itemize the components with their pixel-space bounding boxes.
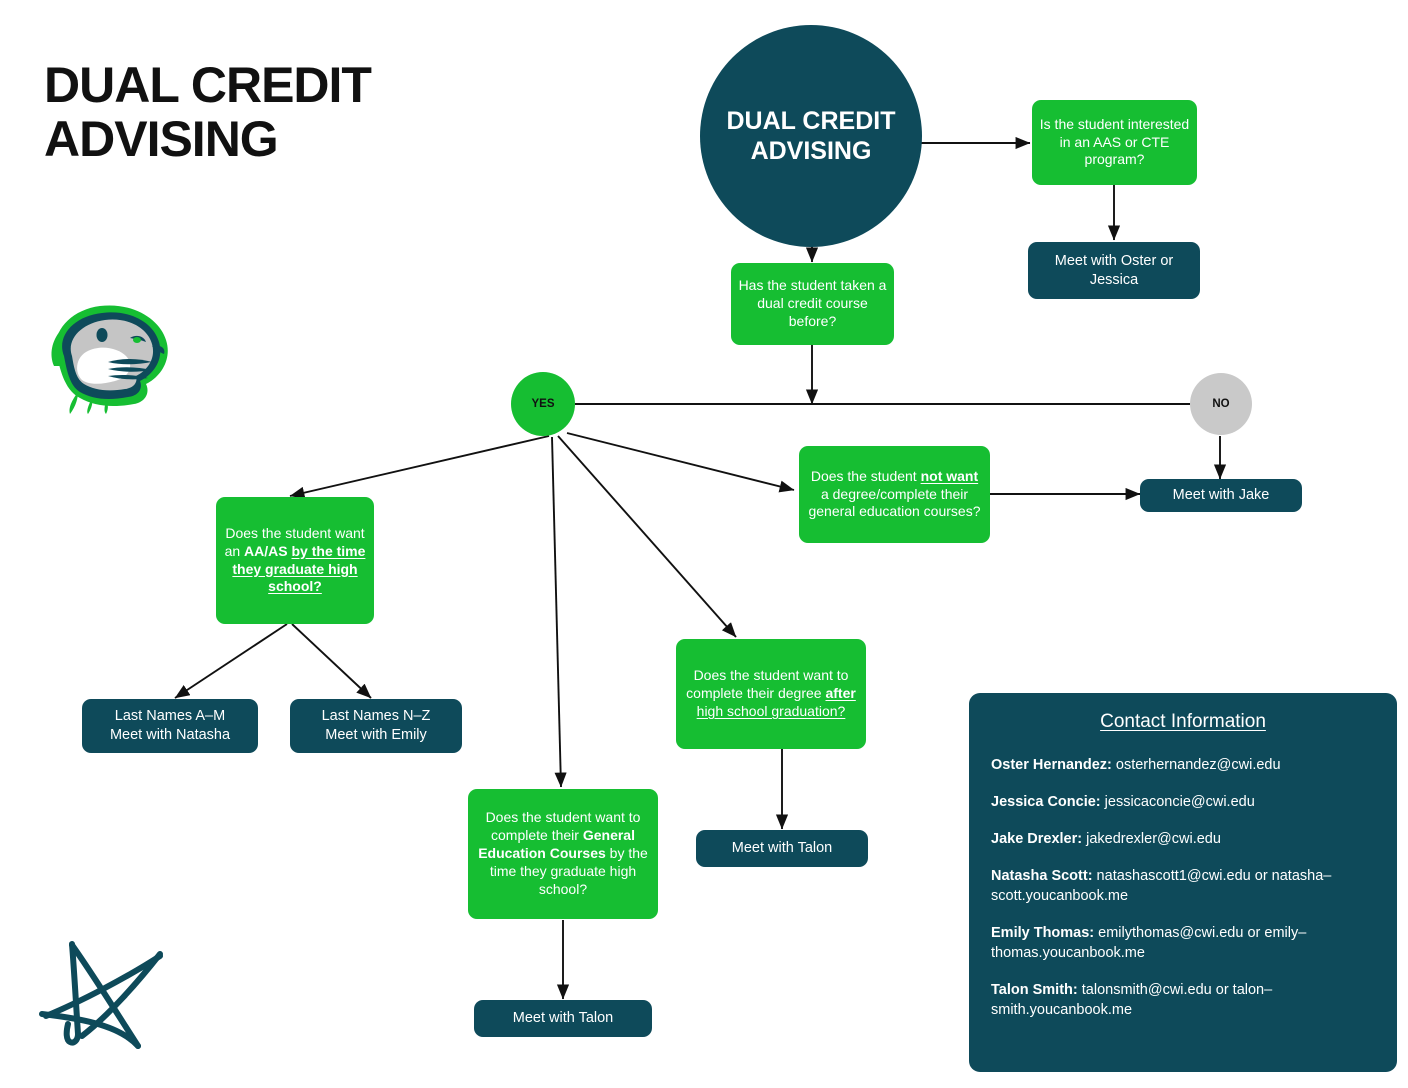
node-last-names-n-z[interactable]: Last Names N–Z Meet with Emily — [290, 699, 462, 753]
contact-row: Jessica Concie: jessicaconcie@cwi.edu — [991, 792, 1375, 812]
contact-row: Natasha Scott: natashascott1@cwi.edu or … — [991, 866, 1375, 906]
page-title-line-2: ADVISING — [44, 112, 474, 166]
contact-information-title: Contact Information — [991, 711, 1375, 733]
last-names-a-m-advisor: Meet with Natasha — [89, 726, 251, 745]
node-taken-dual-credit-before[interactable]: Has the student taken a dual credit cour… — [731, 263, 894, 345]
node-aas-cte-question[interactable]: Is the student interested in an AAS or C… — [1032, 100, 1197, 185]
contact-details: jakedrexler@cwi.edu — [1082, 831, 1221, 847]
contact-information-panel: Contact Information Oster Hernandez: ost… — [969, 693, 1397, 1072]
contact-row: Emily Thomas: emilythomas@cwi.edu or emi… — [991, 923, 1375, 963]
node-meet-talon-left-label: Meet with Talon — [474, 1009, 652, 1028]
after-grad-part-3: high school graduation? — [697, 703, 846, 719]
node-meet-oster-or-jessica[interactable]: Meet with Oster or Jessica — [1028, 242, 1200, 299]
decision-no-label: NO — [1212, 398, 1229, 410]
sketch-star-decoration — [38, 928, 170, 1060]
aa-as-emphasis-degree: AA/AS — [244, 543, 288, 559]
contact-row: Jake Drexler: jakedrexler@cwi.edu — [991, 829, 1375, 849]
contact-name: Oster Hernandez: — [991, 757, 1112, 773]
node-taken-dual-credit-before-label: Has the student taken a dual credit cour… — [731, 277, 894, 331]
contact-row: Talon Smith: talonsmith@cwi.edu or talon… — [991, 980, 1375, 1020]
after-grad-emphasis: after — [825, 685, 855, 701]
contact-name: Jessica Concie: — [991, 794, 1101, 810]
flowchart-canvas: DUAL CREDIT ADVISING — [0, 0, 1408, 1088]
page-title: DUAL CREDIT ADVISING — [44, 58, 474, 166]
not-want-degree-part-3: a degree/complete their general educatio… — [808, 486, 980, 520]
page-title-line-1: DUAL CREDIT — [44, 58, 474, 112]
last-names-n-z-range: Last Names N–Z — [297, 707, 455, 726]
node-meet-jake-label: Meet with Jake — [1140, 486, 1302, 505]
last-names-n-z-advisor: Meet with Emily — [297, 726, 455, 745]
node-aa-as-text: Does the student want an AA/AS by the ti… — [216, 525, 374, 597]
node-meet-talon-left[interactable]: Meet with Talon — [474, 1000, 652, 1037]
node-meet-oster-or-jessica-label: Meet with Oster or Jessica — [1028, 252, 1200, 289]
node-not-want-degree-text: Does the student not want a degree/compl… — [799, 468, 990, 522]
node-last-names-n-z-inner: Last Names N–Z Meet with Emily — [290, 707, 462, 744]
not-want-degree-part-1: Does the student — [811, 468, 921, 484]
node-aa-as-question[interactable]: Does the student want an AA/AS by the ti… — [216, 497, 374, 624]
node-meet-talon-right[interactable]: Meet with Talon — [696, 830, 868, 867]
last-names-a-m-range: Last Names A–M — [89, 707, 251, 726]
contact-row: Oster Hernandez: osterhernandez@cwi.edu — [991, 755, 1375, 775]
node-after-graduation-text: Does the student want to complete their … — [676, 667, 866, 721]
decision-yes[interactable]: YES — [511, 372, 575, 436]
contact-name: Natasha Scott: — [991, 868, 1093, 884]
decision-yes-label: YES — [531, 398, 554, 410]
decision-no[interactable]: NO — [1190, 373, 1252, 435]
node-general-education-text: Does the student want to complete their … — [468, 809, 658, 899]
node-meet-jake[interactable]: Meet with Jake — [1140, 479, 1302, 512]
contact-details: osterhernandez@cwi.edu — [1112, 757, 1281, 773]
cwi-coyote-logo — [42, 296, 174, 414]
root-node-dual-credit-advising[interactable]: DUAL CREDIT ADVISING — [700, 25, 922, 247]
not-want-degree-emphasis: not want — [921, 468, 979, 484]
contact-details: jessicaconcie@cwi.edu — [1101, 794, 1255, 810]
node-after-graduation-question[interactable]: Does the student want to complete their … — [676, 639, 866, 749]
contact-name: Jake Drexler: — [991, 831, 1082, 847]
node-general-education-question[interactable]: Does the student want to complete their … — [468, 789, 658, 919]
root-label-line-1: DUAL CREDIT — [727, 106, 896, 136]
node-last-names-a-m-inner: Last Names A–M Meet with Natasha — [82, 707, 258, 744]
root-label-line-2: ADVISING — [727, 136, 896, 166]
node-last-names-a-m[interactable]: Last Names A–M Meet with Natasha — [82, 699, 258, 753]
contact-name: Talon Smith: — [991, 982, 1078, 998]
node-meet-talon-right-label: Meet with Talon — [696, 839, 868, 858]
contact-name: Emily Thomas: — [991, 925, 1094, 941]
node-not-want-degree-question[interactable]: Does the student not want a degree/compl… — [799, 446, 990, 543]
node-aas-cte-label: Is the student interested in an AAS or C… — [1032, 116, 1197, 170]
